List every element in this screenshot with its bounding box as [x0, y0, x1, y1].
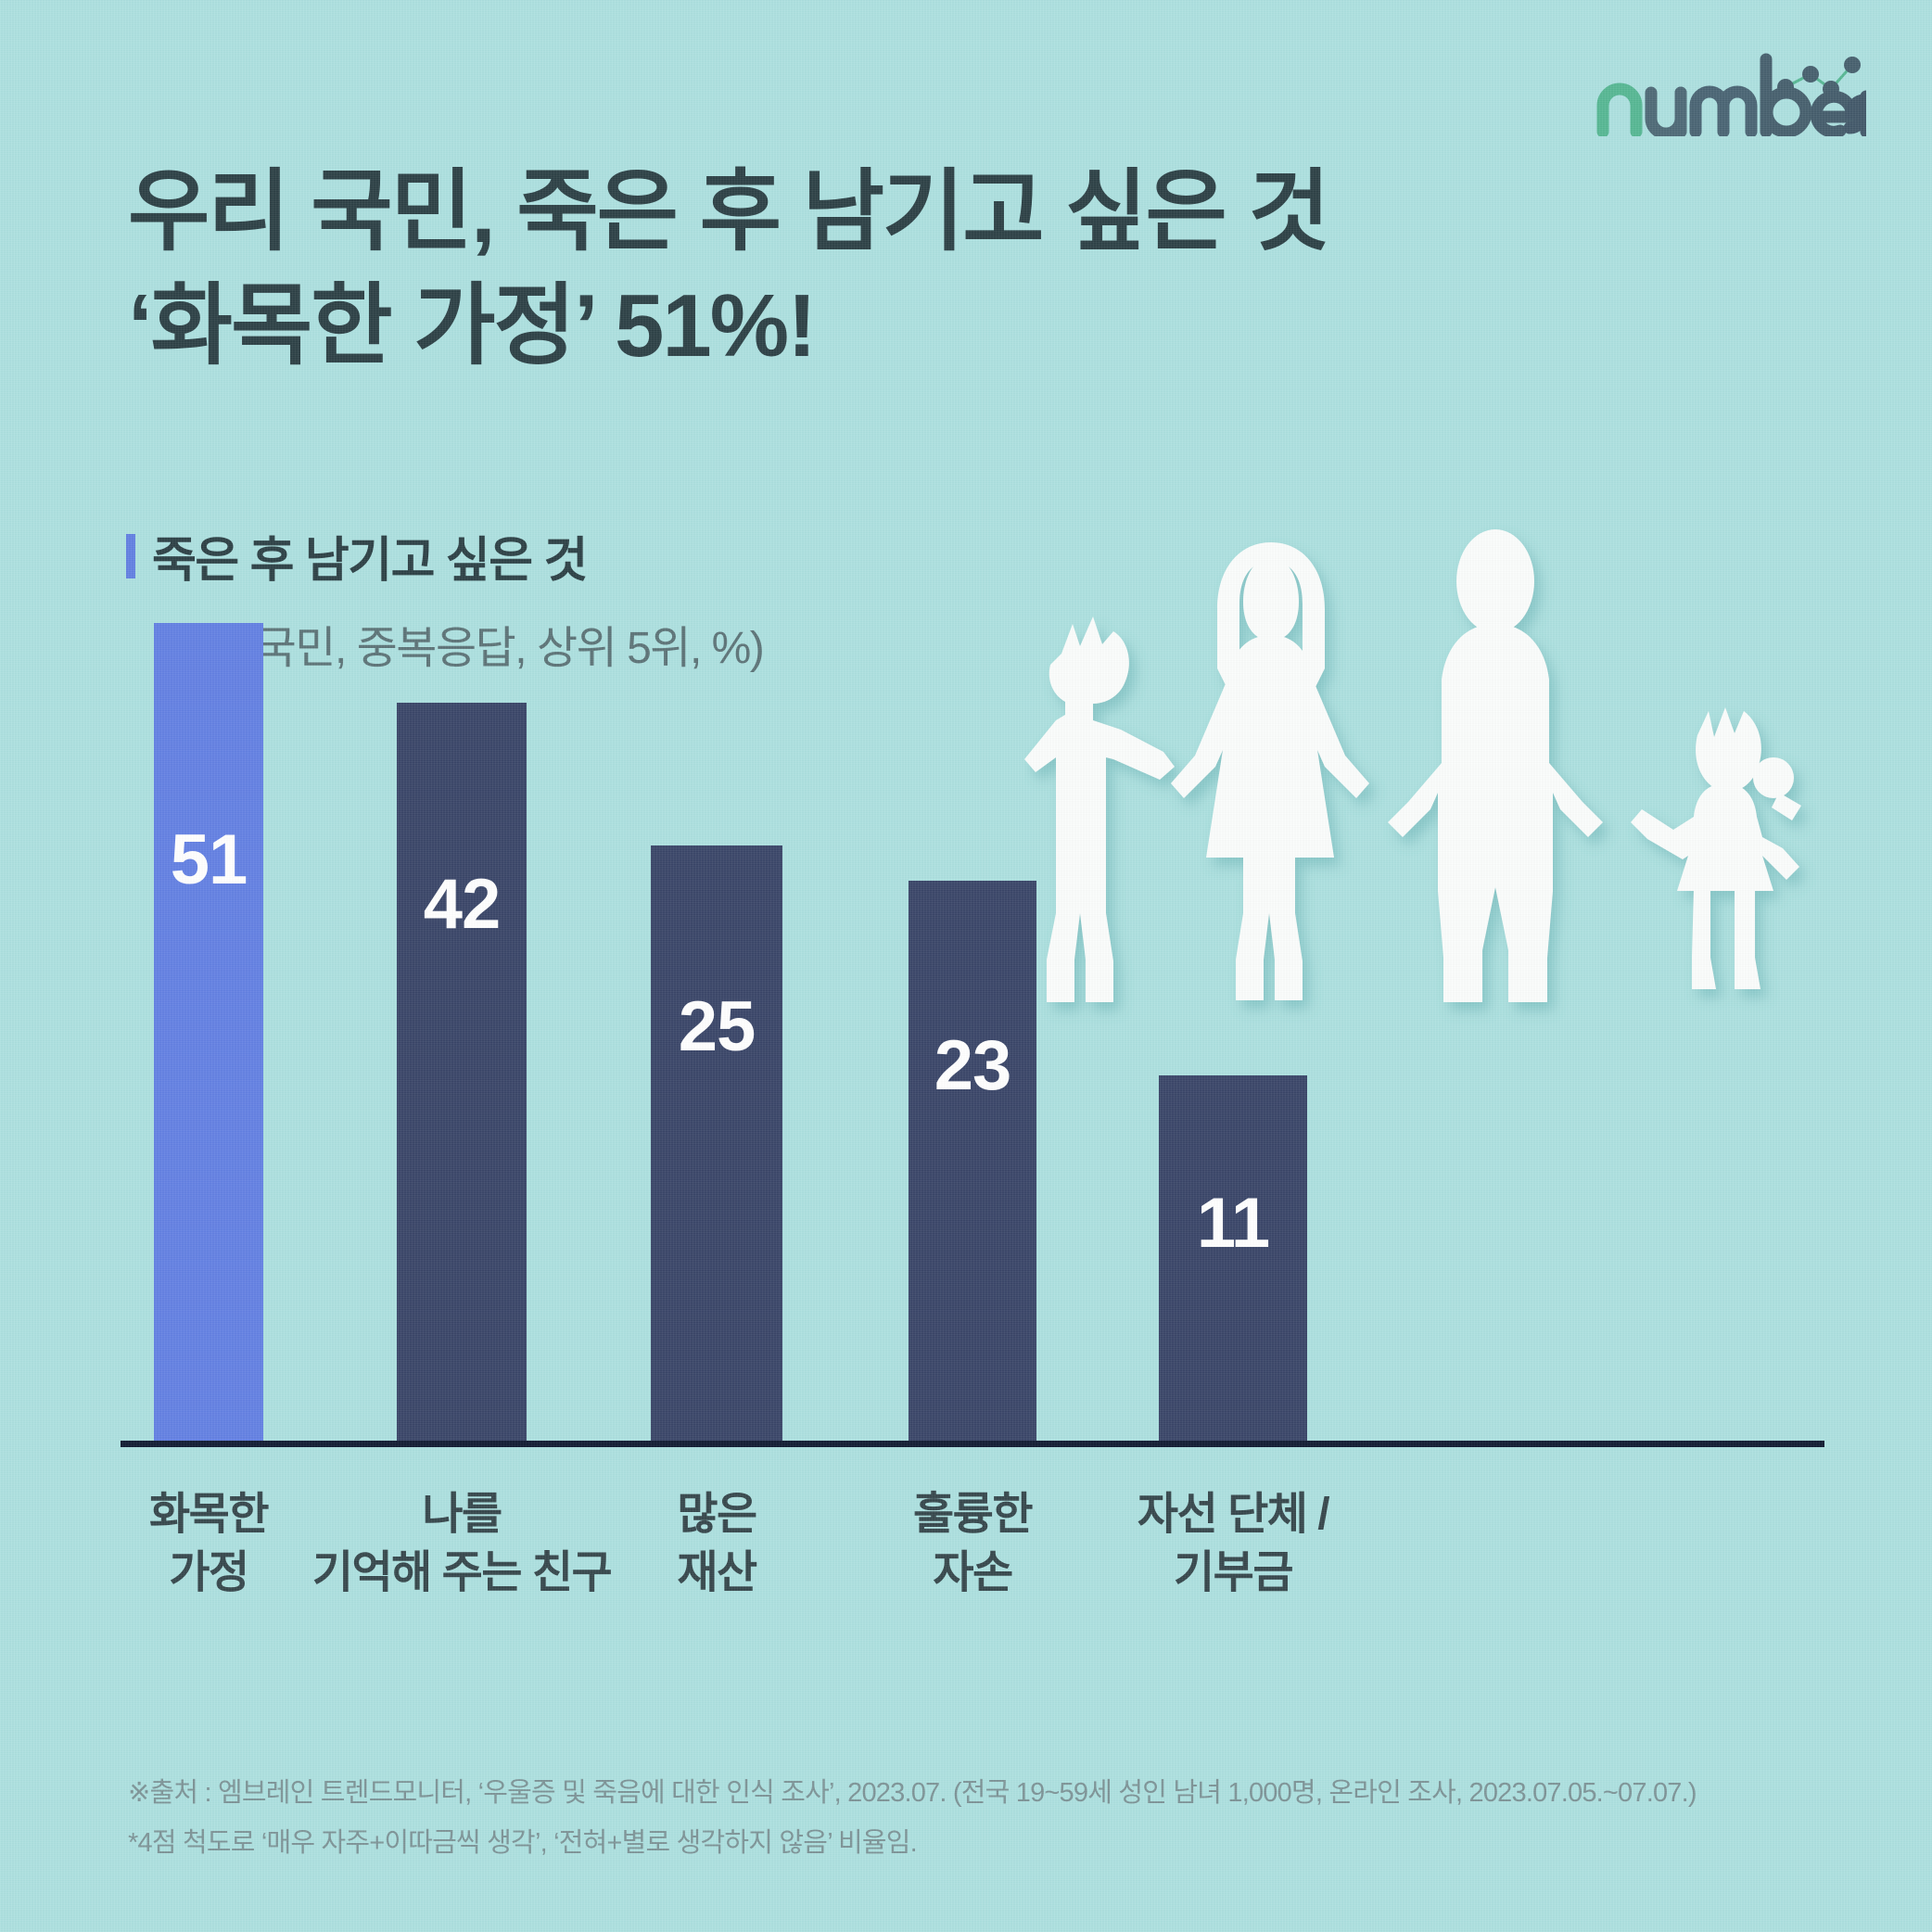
bar-chart: 51 42 25 23 11 화목한 가정 나를 기억해 주는 친구 많은 재산…: [0, 0, 1932, 1932]
footnotes: ※출처 : 엠브레인 트렌드모니터, ‘우울증 및 죽음에 대한 인식 조사’,…: [128, 1769, 1843, 1868]
bar-0: 51: [154, 623, 263, 1446]
bar-value-3: 23: [909, 1031, 1036, 1101]
bar-2: 25: [651, 845, 782, 1446]
category-label-2: 많은 재산: [578, 1485, 856, 1603]
infographic-canvas: 우리 국민, 죽은 후 남기고 싶은 것 ‘화목한 가정’ 51%! 죽은 후 …: [0, 0, 1932, 1932]
bar-3: 23: [909, 881, 1036, 1446]
category-label-3: 훌륭한 자손: [833, 1485, 1112, 1603]
bar-value-4: 11: [1159, 1188, 1307, 1259]
footnote-note: *4점 척도로 ‘매우 자주+이따금씩 생각’, ‘전혀+별로 생각하지 않음’…: [128, 1819, 1843, 1869]
bar-value-1: 42: [397, 870, 527, 940]
bar-value-2: 25: [651, 992, 782, 1062]
footnote-source: ※출처 : 엠브레인 트렌드모니터, ‘우울증 및 죽음에 대한 인식 조사’,…: [128, 1769, 1843, 1819]
bar-4: 11: [1159, 1075, 1307, 1446]
x-axis-line: [121, 1441, 1824, 1447]
category-label-4: 자선 단체 / 기부금: [1094, 1485, 1372, 1603]
bar-value-0: 51: [154, 825, 263, 896]
bar-1: 42: [397, 703, 527, 1446]
